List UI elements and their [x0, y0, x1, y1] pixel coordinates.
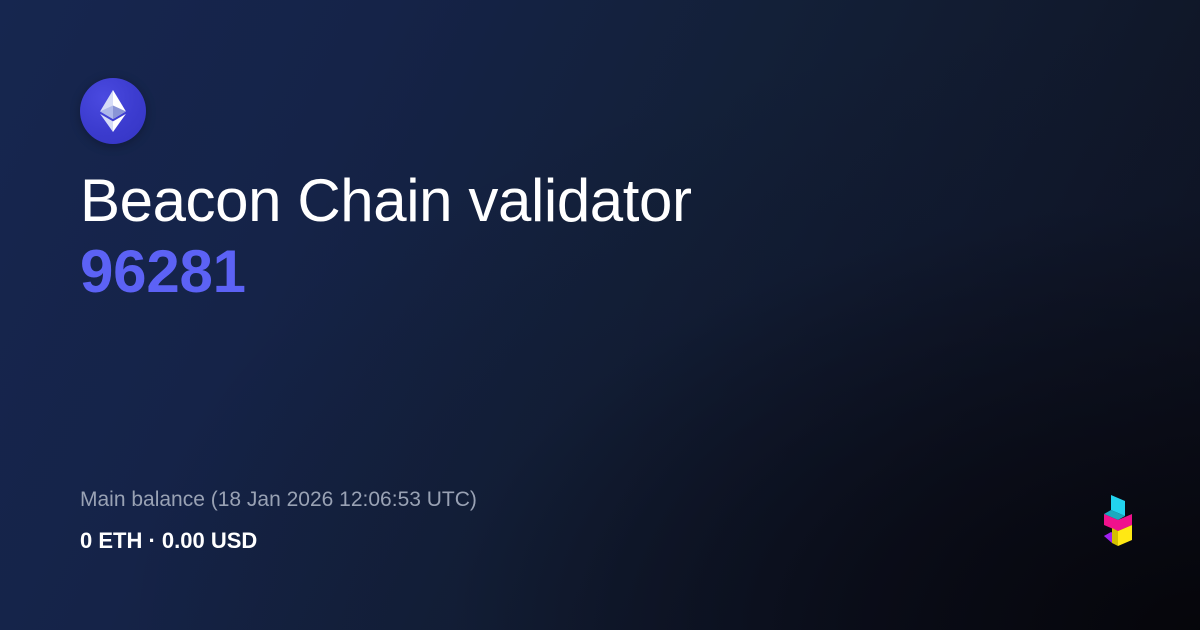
avatar: [80, 78, 146, 144]
validator-id: 96281: [80, 241, 1120, 302]
ethereum-diamond-icon: [98, 90, 128, 132]
card-content: Beacon Chain validator 96281: [80, 78, 1120, 302]
title-block: Beacon Chain validator 96281: [80, 170, 1120, 302]
beaconchain-logo-icon: [1098, 492, 1138, 550]
og-preview-card: Beacon Chain validator 96281 Main balanc…: [0, 0, 1200, 630]
balance-value: 0 ETH · 0.00 USD: [80, 527, 477, 556]
balance-block: Main balance (18 Jan 2026 12:06:53 UTC) …: [80, 486, 477, 556]
balance-label: Main balance (18 Jan 2026 12:06:53 UTC): [80, 486, 477, 513]
brand-logo: [1098, 492, 1138, 550]
page-title: Beacon Chain validator: [80, 170, 1120, 231]
